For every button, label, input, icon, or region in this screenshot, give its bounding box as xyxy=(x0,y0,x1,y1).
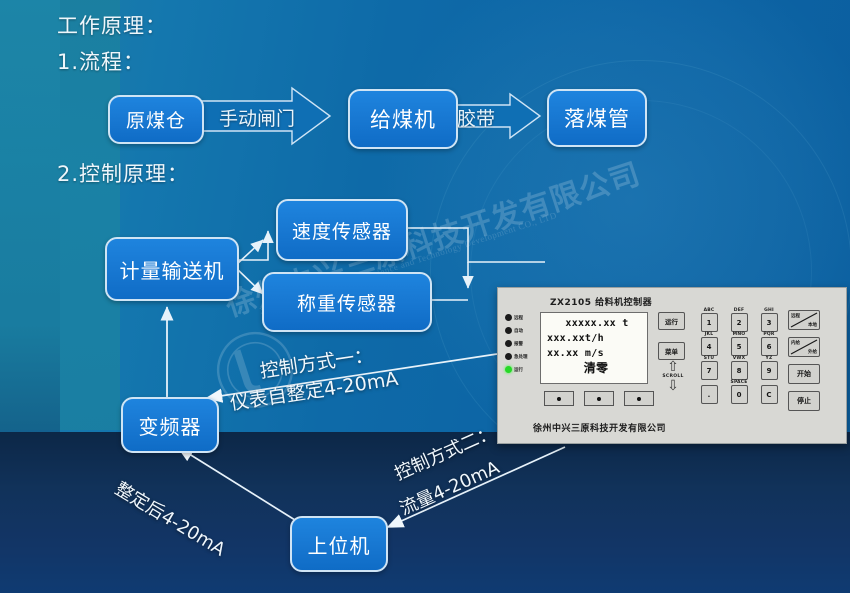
keypad-letters: GHI xyxy=(764,308,774,313)
control-box-label: 称重传感器 xyxy=(297,289,397,316)
key-stop[interactable]: 停止 xyxy=(788,391,820,411)
soft-button-3[interactable] xyxy=(624,391,654,406)
scroll-down-icon[interactable]: ⇩ xyxy=(661,380,685,392)
keypad-key-3[interactable]: 3 xyxy=(761,313,778,332)
dot-icon xyxy=(597,397,601,401)
led-row: 急处理 xyxy=(505,350,539,363)
lcd-line-flow-rate: xxx.xxt/h xyxy=(543,331,645,346)
key-menu[interactable]: 菜单 xyxy=(658,342,685,360)
control-box-label: 变频器 xyxy=(139,411,202,440)
scroll-up-icon[interactable]: ⇧ xyxy=(661,361,685,373)
device-lcd-screen: xxxxx.xx t xxx.xxt/h xx.xx m/s 清零 xyxy=(540,312,648,384)
key-label-top: 远程 xyxy=(791,313,800,319)
control-box-label: 速度传感器 xyxy=(292,217,392,244)
key-run[interactable]: 运行 xyxy=(658,312,685,330)
key-label-bottom: 本地 xyxy=(808,322,817,328)
flow-box-raw-coal-bunker[interactable]: 原煤仓 xyxy=(108,95,204,144)
keypad-cell[interactable]: DEF 2 xyxy=(724,308,754,332)
flow-box-coal-drop-pipe[interactable]: 落煤管 xyxy=(547,89,647,147)
lcd-line-status: 清零 xyxy=(543,361,645,376)
page-title: 工作原理： xyxy=(57,10,167,40)
control-box-weight-sensor[interactable]: 称重传感器 xyxy=(262,272,432,332)
key-label-top: 内给 xyxy=(791,340,800,346)
device-soft-buttons[interactable] xyxy=(544,391,654,406)
keypad-key-5[interactable]: 5 xyxy=(731,337,748,356)
flow-box-label: 落煤管 xyxy=(564,103,630,133)
soft-button-2[interactable] xyxy=(584,391,614,406)
section-1-title: 1.流程： xyxy=(57,46,145,76)
keypad-cell[interactable]: C xyxy=(754,380,784,404)
keypad-cell[interactable]: MNO 5 xyxy=(724,332,754,356)
keypad-letters: JKL xyxy=(705,332,714,337)
section-2-title: 2.控制原理： xyxy=(57,158,189,188)
keypad-key-2[interactable]: 2 xyxy=(731,313,748,332)
keypad-letters: MNO xyxy=(733,332,746,337)
led-auto-icon xyxy=(505,327,512,334)
led-label: 远程 xyxy=(514,315,523,321)
keypad-cell[interactable]: YZ 9 xyxy=(754,356,784,380)
device-manufacturer: 徐州中兴三原科技开发有限公司 xyxy=(533,421,666,434)
device-scroll-control[interactable]: ⇧ SCROLL ⇩ xyxy=(661,361,685,392)
flow-box-label: 给煤机 xyxy=(370,104,436,134)
control-box-label: 上位机 xyxy=(308,530,371,559)
keypad-key-6[interactable]: 6 xyxy=(761,337,778,356)
flow-arrow-label-belt: 胶带 xyxy=(457,104,495,131)
flow-arrow-label-manual-gate: 手动闸门 xyxy=(219,104,295,131)
keypad-cell[interactable]: SPACE 0 xyxy=(724,380,754,404)
keypad-key-c[interactable]: C xyxy=(761,385,778,404)
key-remote-local[interactable]: 远程 本地 xyxy=(788,310,820,330)
led-label: 急处理 xyxy=(514,354,528,360)
keypad-cell[interactable]: JKL 4 xyxy=(694,332,724,356)
led-alarm-icon xyxy=(505,340,512,347)
control-box-frequency-converter[interactable]: 变频器 xyxy=(121,397,219,453)
led-row: 远程 xyxy=(505,311,539,324)
flow-box-label: 原煤仓 xyxy=(126,106,186,133)
keypad-letters: DEF xyxy=(734,308,744,313)
keypad-letters: YZ xyxy=(766,356,773,361)
lcd-line-total-weight: xxxxx.xx t xyxy=(543,316,645,331)
keypad-key-8[interactable]: 8 xyxy=(731,361,748,380)
led-row: 报警 xyxy=(505,337,539,350)
keypad-letters: VWX xyxy=(733,356,746,361)
lcd-line-belt-speed: xx.xx m/s xyxy=(543,346,645,361)
keypad-key-9[interactable]: 9 xyxy=(761,361,778,380)
led-label: 自动 xyxy=(514,328,523,334)
led-emergency-icon xyxy=(505,353,512,360)
flow-box-coal-feeder[interactable]: 给煤机 xyxy=(348,89,458,149)
keypad-cell[interactable]: GHI 3 xyxy=(754,308,784,332)
keypad-cell[interactable]: . xyxy=(694,380,724,404)
device-title: ZX2105 给料机控制器 xyxy=(550,295,652,308)
key-internal-external[interactable]: 内给 外给 xyxy=(788,337,820,357)
controller-device-panel[interactable]: ZX2105 给料机控制器 远程 自动 报警 急处理 运行 xyxy=(497,287,847,444)
keypad-letters: SPACE xyxy=(731,380,748,385)
control-box-label: 计量输送机 xyxy=(120,255,225,284)
led-label: 报警 xyxy=(514,341,523,347)
led-row: 自动 xyxy=(505,324,539,337)
device-right-key-column[interactable]: 远程 本地 内给 外给 开始 停止 xyxy=(788,310,820,418)
device-numeric-keypad[interactable]: ABC 1 DEF 2 GHI 3 JKL 4 MNO 5 PQR 6 xyxy=(694,308,784,404)
dot-icon xyxy=(557,397,561,401)
device-led-indicators: 远程 自动 报警 急处理 运行 xyxy=(505,311,539,376)
keypad-key-4[interactable]: 4 xyxy=(701,337,718,356)
key-start[interactable]: 开始 xyxy=(788,364,820,384)
keypad-key-1[interactable]: 1 xyxy=(701,313,718,332)
keypad-cell[interactable]: ABC 1 xyxy=(694,308,724,332)
keypad-letters: PQR xyxy=(763,332,774,337)
keypad-key-0[interactable]: 0 xyxy=(731,385,748,404)
keypad-key-7[interactable]: 7 xyxy=(701,361,718,380)
control-box-host-computer[interactable]: 上位机 xyxy=(290,516,388,572)
dot-icon xyxy=(637,397,641,401)
keypad-cell[interactable]: VWX 8 xyxy=(724,356,754,380)
soft-button-1[interactable] xyxy=(544,391,574,406)
control-box-speed-sensor[interactable]: 速度传感器 xyxy=(276,199,408,261)
led-remote-icon xyxy=(505,314,512,321)
control-box-metering-conveyor[interactable]: 计量输送机 xyxy=(105,237,239,301)
keypad-letters: STU xyxy=(704,356,715,361)
keypad-key-dot[interactable]: . xyxy=(701,385,718,404)
led-label: 运行 xyxy=(514,367,523,373)
keypad-cell[interactable]: STU 7 xyxy=(694,356,724,380)
keypad-letters: ABC xyxy=(704,308,715,313)
diagram-canvas: 徐州中兴三原科技开发有限公司 Xuzhou Zhongxingsanyuan S… xyxy=(0,0,850,593)
led-running-icon xyxy=(505,366,512,373)
led-row: 运行 xyxy=(505,363,539,376)
keypad-cell[interactable]: PQR 6 xyxy=(754,332,784,356)
key-label-bottom: 外给 xyxy=(808,349,817,355)
